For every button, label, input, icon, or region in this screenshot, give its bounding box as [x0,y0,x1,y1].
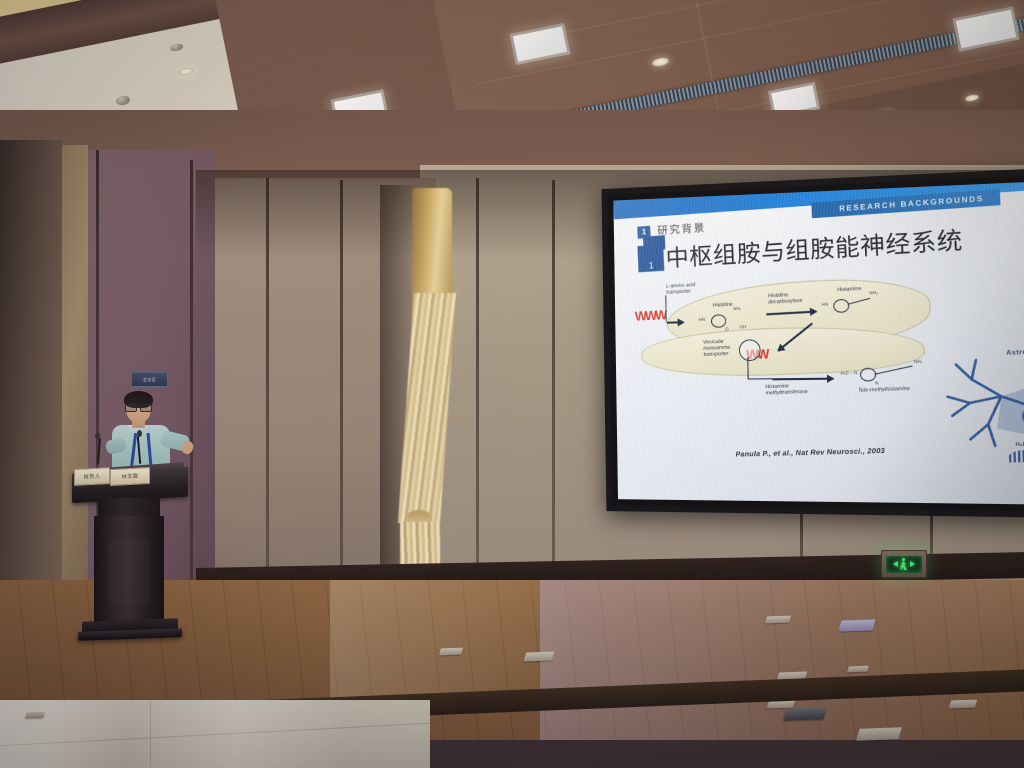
wall-panel-groove [266,178,269,573]
diagram-bracket-h [748,378,773,380]
diagram-label-transporter: L-amino acid transporter [666,282,696,296]
diagram-molecule-histidine [711,314,727,328]
floor-outlet-plate [524,652,555,662]
floor-outlet-plate [783,707,827,720]
microphone-head [137,430,142,437]
diagram-label-n: N [875,380,879,386]
podium-namecard-role: 报告人 [74,467,110,486]
diagram-label-histamine: Histamine [837,286,861,294]
presentation-slide: RESEARCH BACKGROUNDS 1 研究背景 1 中枢组胺与组胺能神经… [613,181,1024,504]
diagram-label-histamine-methyltransferase: Histamine methyltransferase [765,383,808,397]
diagram-label-nh2: NH₂ [914,359,923,365]
diagram-label-nh2: NH₂ [869,290,878,296]
wall-panel-groove [340,180,343,570]
diagram-label-oh: OH [740,324,747,330]
slide-title: 中枢组胺与组胺能神经系统 [665,228,963,270]
curtain-pleats [398,293,456,523]
exit-sign-face [886,556,922,573]
diagram-imidazole-ring [711,314,727,328]
diagram-astrocyte: Astrocyte [931,346,1024,476]
marble-seam [150,700,151,768]
diagram-arrow-methylation [772,378,833,380]
floor-cool-reflection [540,580,1024,740]
floor-outlet-plate [949,700,978,709]
glasses-bridge [135,406,142,407]
wall-panel-groove [190,160,193,610]
slide-title-badge: 1 [637,244,664,272]
floor-outlet-plate [838,619,876,631]
running-person-icon [899,558,909,571]
window-curtain [404,188,456,598]
diagram-transporter-stem [665,295,666,321]
diagram-label-vmat: Vesicular monoamine transporter [703,338,731,358]
wall-plaque-text: 会议室 [143,377,156,383]
diagram-label-o: O [725,326,729,331]
diagram-label-product: Tele-methylhistamine [858,386,910,394]
wall-room-plaque: 会议室 [131,372,168,387]
projection-screen[interactable]: RESEARCH BACKGROUNDS 1 研究背景 1 中枢组胺与组胺能神经… [602,168,1024,518]
conference-hall-photo: 会议室 RESEARCH BACKGROUNDS 1 研究背景 1 中枢组胺与组… [0,0,1024,768]
floor-outlet-plate [847,666,869,673]
diagram-label-hn: HN [821,301,828,307]
floor-outlet-plate [439,648,463,656]
emergency-exit-sign [881,550,927,578]
diagram-label-histidine-decarboxylase: Histidine decarboxylase [768,291,803,306]
arrow-right-icon [910,561,915,567]
diagram-molecule-histamine [833,299,850,313]
marble-floor [0,700,430,768]
marble-seam [0,723,430,747]
diagram-label-hn: HN [699,317,705,323]
diagram-label-h3-receptor: H₃R [1015,441,1024,448]
lectern-podium: 报告人 林文霞 [72,462,188,647]
diagram-label-astrocyte: Astrocyte [1006,348,1024,357]
diagram-label-histidine: Histidine [713,302,733,309]
slide-diagram-histaminergic-system: WWW WW L-amino acid transporter Histidin… [615,266,1024,456]
floor-outlet-plate [856,727,902,740]
diagram-label-h3c-n: H₃C – N [841,370,858,376]
floor-debris [25,712,45,719]
diagram-label-nh2: NH₂ [733,306,741,312]
microphone-head [95,432,100,439]
wall-panel-groove [476,178,479,570]
floor-warm-reflection [330,580,570,700]
floor-outlet-plate [765,616,791,624]
arrow-left-icon [893,561,898,567]
podium-column [94,516,164,624]
diagram-imidazole-ring [833,299,850,313]
diagram-action-potential-spikes: WWW [635,307,666,324]
podium-namecard-name: 林文霞 [110,467,150,486]
presenter-glasses [125,404,152,410]
diagram-arrow-uptake [667,321,684,323]
wall-panel-groove [552,180,555,568]
